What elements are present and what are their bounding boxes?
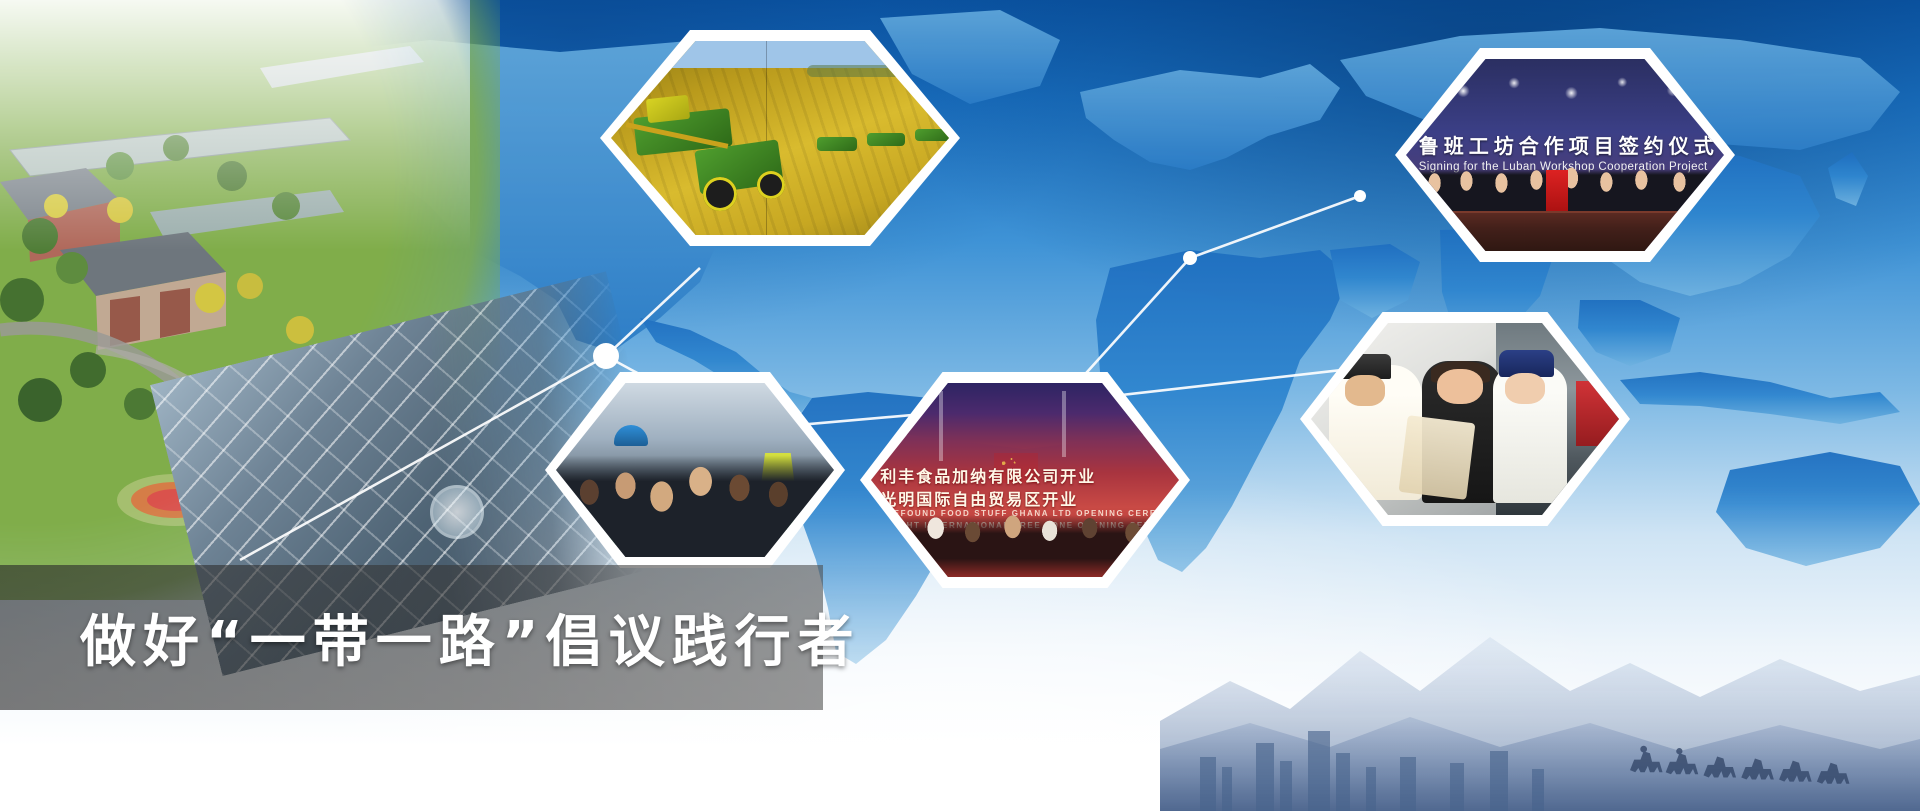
chef-master-face [1345,375,1385,406]
leefound-caption-cn-1: 利丰食品加纳有限公司开业 [880,463,1173,487]
canopy-pole-left [939,391,943,461]
distant-combine-3 [915,129,949,141]
tractor-wheel-rear [703,177,737,211]
hex-harvest-divider [766,41,767,235]
banner-image: 鲁班工坊合作项目签约仪式 Signing for the Luban Works… [0,0,1920,811]
distant-combine-1 [817,137,857,151]
leefound-caption-cn-2: 光明国际自由贸易区开业 [880,486,1173,510]
page-title: 做好“一带一路”倡议践行者 [80,565,840,710]
luban-signed-document [1546,170,1568,212]
luban-caption-cn: 鲁班工坊合作项目签约仪式 [1419,130,1718,159]
student-center-face [1437,369,1483,404]
canopy-pole-right [1062,391,1066,457]
student-right-face [1505,373,1545,404]
hard-hat-icon [614,425,648,446]
distant-combine-2 [867,133,905,146]
tractor-wheel-front [757,171,785,199]
hand-pulled-noodles [1399,415,1476,499]
combine-harvester-cab [646,95,690,123]
